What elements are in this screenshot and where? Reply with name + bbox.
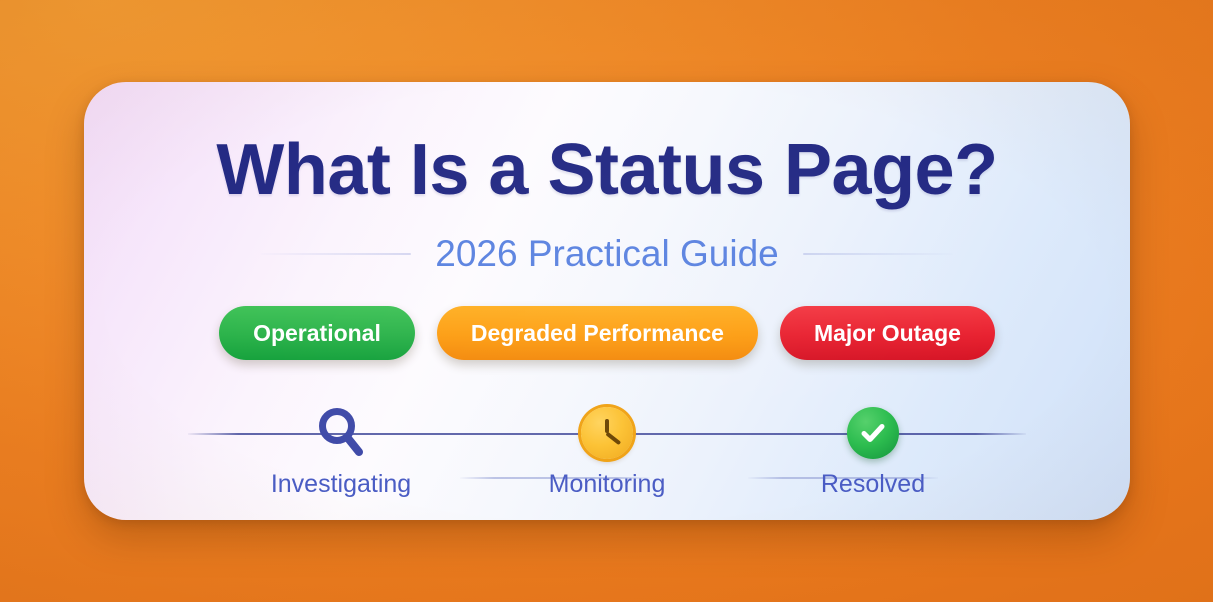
magnifier-icon	[314, 402, 368, 464]
status-page-card: What Is a Status Page? 2026 Practical Gu…	[84, 82, 1130, 520]
status-badge-group: Operational Degraded Performance Major O…	[84, 306, 1130, 360]
timeline-stage-label-investigating: Investigating	[271, 470, 411, 499]
timeline-stage-monitoring[interactable]: Monitoring	[512, 382, 702, 499]
clock-icon	[581, 402, 633, 464]
incident-timeline: Investigating Monitoring	[188, 382, 1026, 492]
page-title: What Is a Status Page?	[84, 134, 1130, 206]
status-badge-degraded-performance[interactable]: Degraded Performance	[437, 306, 758, 360]
page-subtitle: 2026 Practical Guide	[435, 233, 778, 275]
status-badge-operational[interactable]: Operational	[219, 306, 415, 360]
subtitle-row: 2026 Practical Guide	[84, 232, 1130, 276]
poster-canvas: What Is a Status Page? 2026 Practical Gu…	[0, 0, 1213, 602]
check-circle-icon	[847, 402, 899, 464]
status-badge-major-outage[interactable]: Major Outage	[780, 306, 995, 360]
timeline-stage-label-resolved: Resolved	[821, 470, 925, 499]
timeline-stage-resolved[interactable]: Resolved	[778, 382, 968, 499]
timeline-stage-investigating[interactable]: Investigating	[246, 382, 436, 499]
subtitle-rule-right	[803, 253, 953, 255]
timeline-stage-label-monitoring: Monitoring	[549, 470, 666, 499]
timeline-stage-list: Investigating Monitoring	[188, 382, 1026, 492]
subtitle-rule-left	[261, 253, 411, 255]
